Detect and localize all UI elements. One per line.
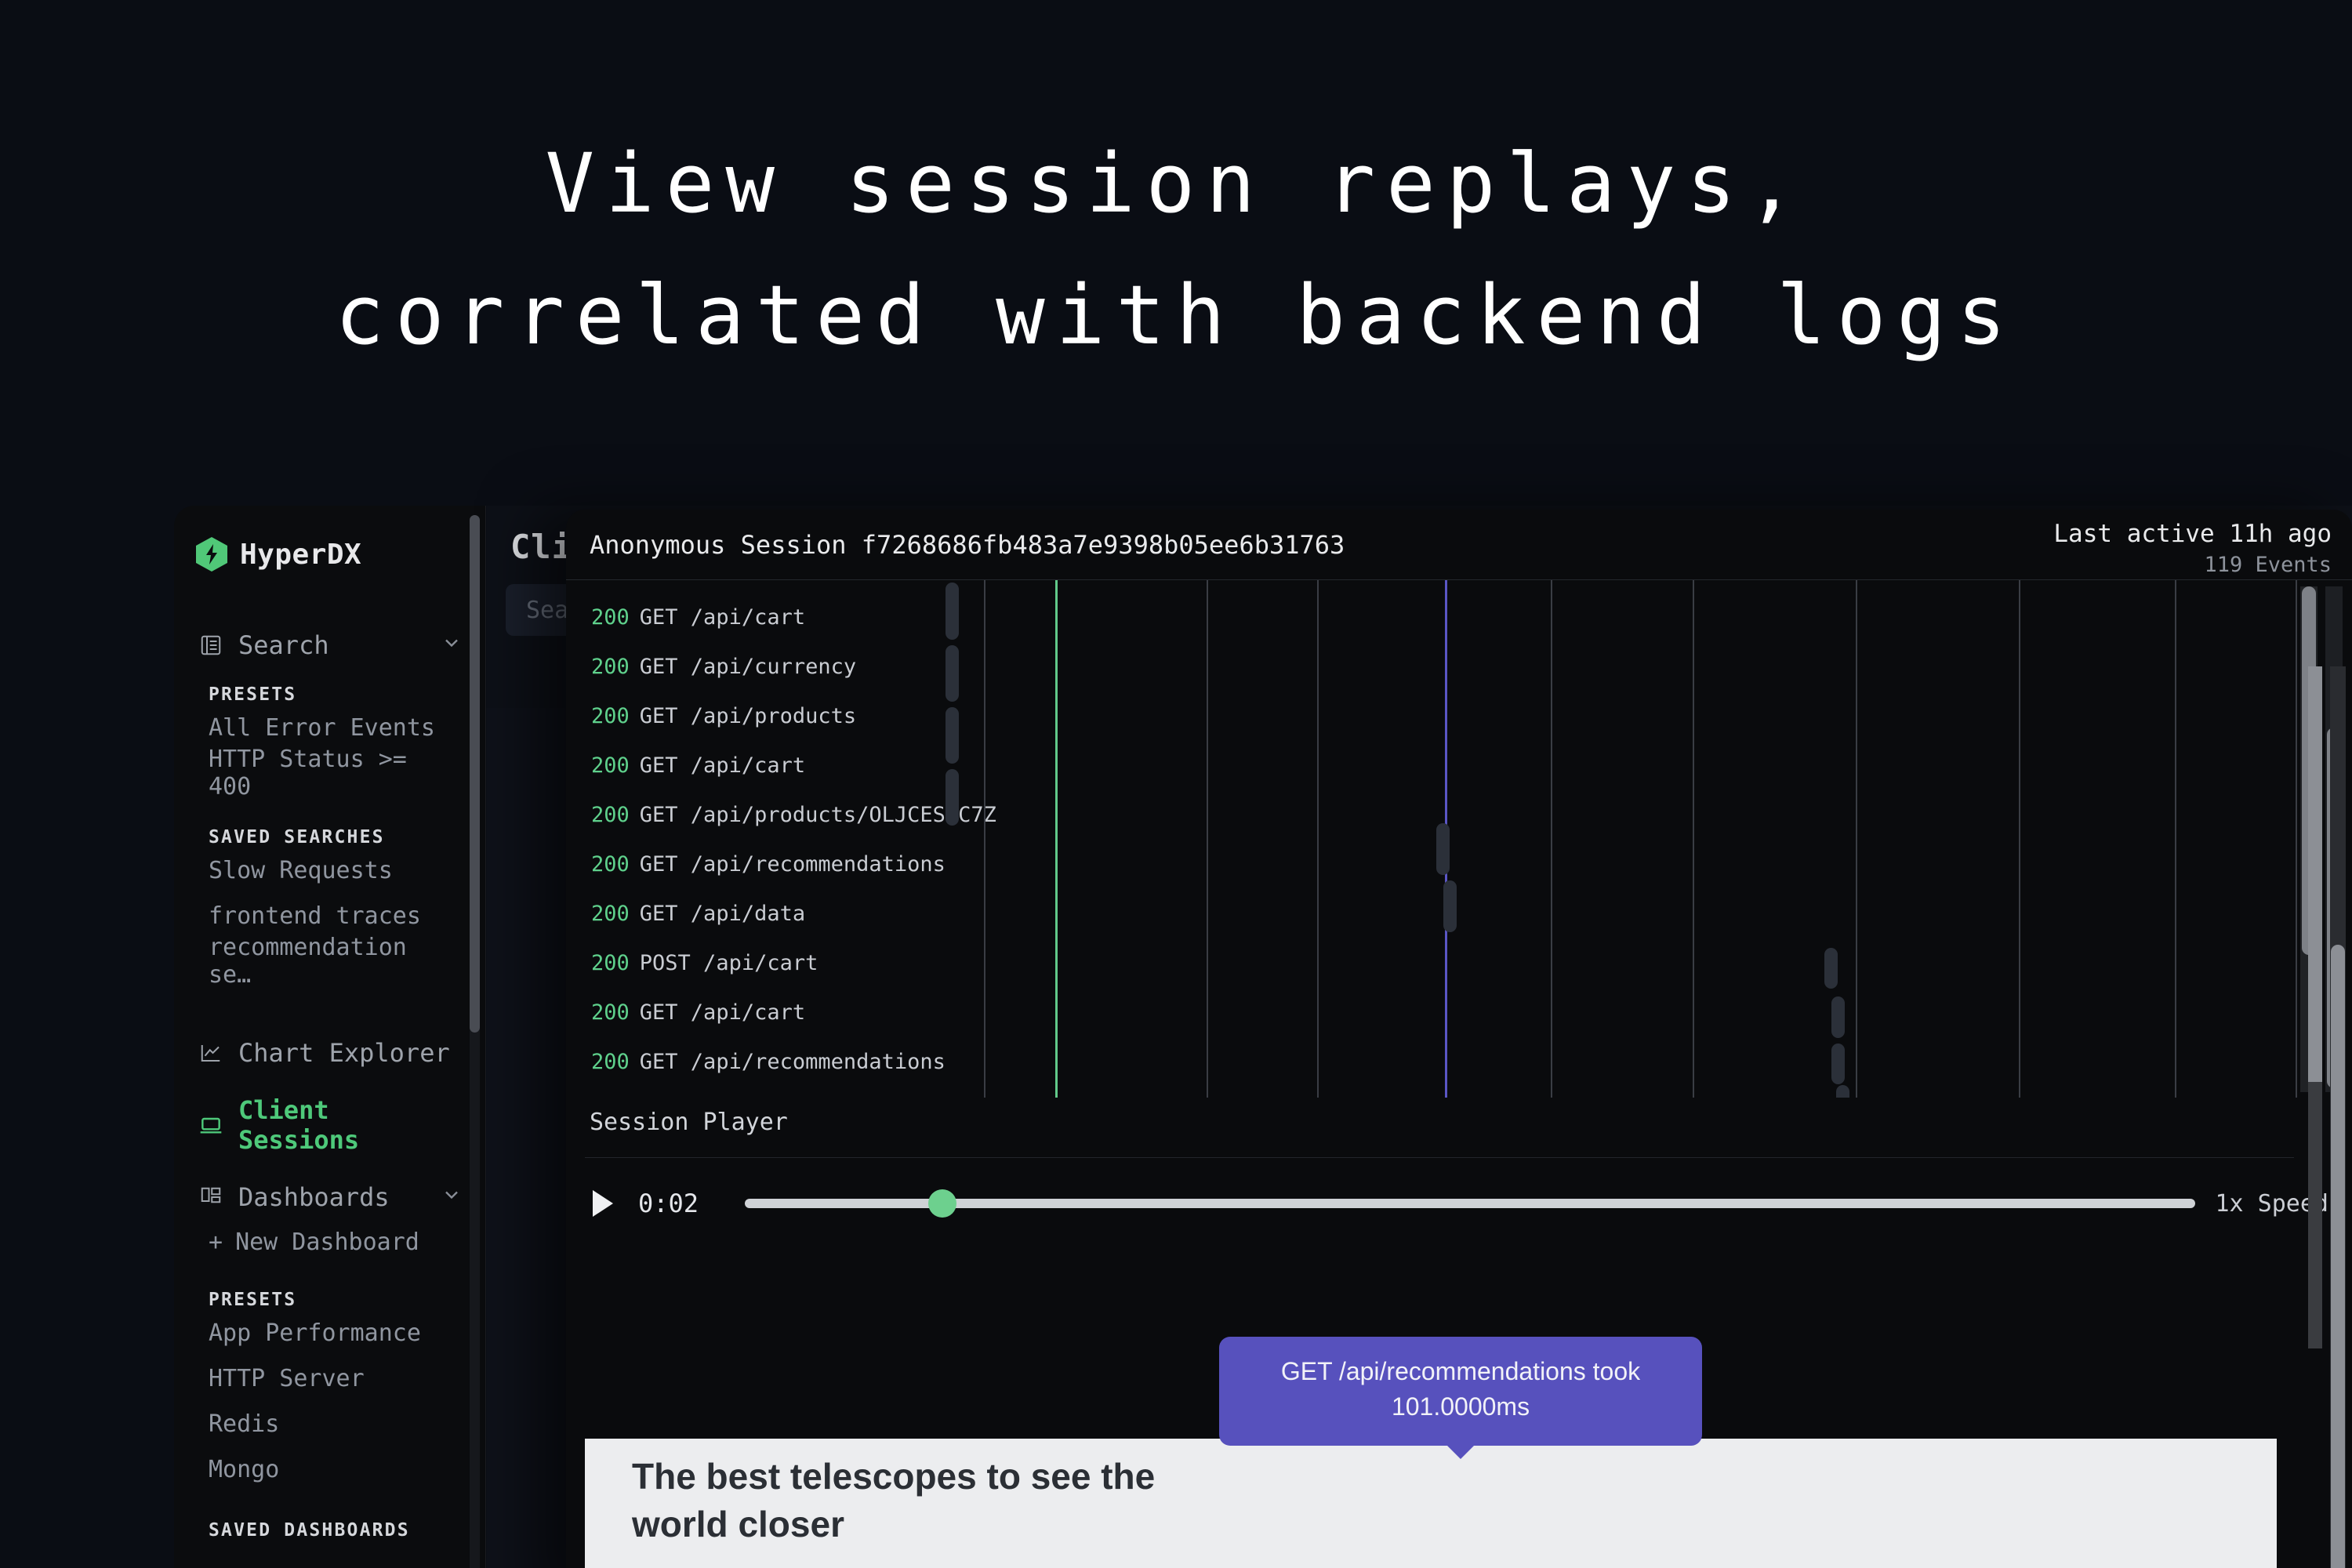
- timeline-event-marker[interactable]: [1824, 948, 1838, 989]
- sidebar-dashboard-app-performance[interactable]: App Performance: [174, 1310, 486, 1356]
- presets-label: PRESETS: [174, 667, 486, 705]
- chevron-down-icon[interactable]: [441, 1182, 463, 1212]
- event-label: GET /api/products: [640, 704, 856, 728]
- event-label: GET /api/cart: [640, 1000, 805, 1025]
- chevron-down-icon[interactable]: [441, 630, 463, 660]
- sidebar-item-label: New Dashboard: [235, 1229, 419, 1256]
- replay-viewport: The best telescopes to see the world clo…: [585, 1439, 2277, 1568]
- session-events-count: 119 Events: [2053, 551, 2332, 579]
- event-status-code: 200: [591, 951, 630, 975]
- event-row[interactable]: 200POST /api/cart: [566, 938, 935, 988]
- sidebar-item-chart-explorer[interactable]: Chart Explorer: [174, 1031, 486, 1075]
- session-player: Session Player 0:02 1x Speed: [566, 1098, 2352, 1239]
- sidebar-new-dashboard[interactable]: + New Dashboard: [174, 1219, 486, 1265]
- event-label: GET /api/data: [640, 902, 805, 926]
- panel-scrollbar-right-thumb[interactable]: [2331, 945, 2345, 1568]
- sidebar-preset-all-error-events[interactable]: All Error Events: [174, 705, 486, 750]
- sidebar-item-dashboards[interactable]: Dashboards: [174, 1175, 486, 1219]
- sidebar: HyperDX Search PRESETS All: [174, 506, 486, 1568]
- brand-logo[interactable]: HyperDX: [196, 537, 361, 572]
- player-controls: 0:02 1x Speed: [566, 1174, 2352, 1232]
- line-chart-icon: [198, 1040, 224, 1066]
- saved-searches-label: SAVED SEARCHES: [174, 810, 486, 848]
- timeline-gridline: [2019, 580, 2020, 1098]
- dashboard-grid-icon: [198, 1184, 224, 1210]
- event-status-code: 200: [591, 753, 630, 778]
- seek-rail[interactable]: [745, 1199, 2195, 1208]
- dashboard-presets-label: PRESETS: [174, 1272, 486, 1310]
- timeline-event-marker[interactable]: [946, 645, 959, 702]
- sidebar-preset-http-status-400[interactable]: HTTP Status >= 400: [174, 750, 486, 796]
- event-row[interactable]: 200GET /api/recommendations: [566, 1037, 935, 1087]
- nav-lower-group: Chart Explorer Client Sessions: [174, 1031, 486, 1541]
- hero-headline: View session replays, correlated with ba…: [0, 118, 2352, 382]
- timeline-event-marker[interactable]: [946, 583, 959, 640]
- session-timeline: 200GET /api/cart200GET /api/currency200G…: [566, 580, 2352, 1098]
- event-row[interactable]: 200GET /api/products: [566, 691, 935, 741]
- divider: [585, 1157, 2294, 1158]
- panel-scrollbar-right[interactable]: [2330, 666, 2346, 1568]
- saved-dashboards-label: SAVED DASHBOARDS: [174, 1503, 486, 1541]
- event-list: 200GET /api/cart200GET /api/currency200G…: [566, 580, 935, 1098]
- list-document-icon: [198, 632, 224, 659]
- event-status-code: 200: [591, 704, 630, 728]
- sidebar-item-label: Search: [238, 630, 329, 660]
- timeline-gridline: [1693, 580, 1694, 1098]
- timeline-event-marker[interactable]: [946, 707, 959, 764]
- timeline-gridline: [1317, 580, 1319, 1098]
- event-status-code: 200: [591, 1000, 630, 1025]
- event-label: GET /api/recommendations: [640, 852, 946, 877]
- sidebar-item-label: Client Sessions: [238, 1095, 463, 1155]
- event-label: GET /api/recommendations: [640, 1050, 946, 1074]
- hero-line-1: View session replays,: [546, 136, 1807, 231]
- timeline-event-marker[interactable]: [1443, 880, 1457, 932]
- event-label: POST /api/cart: [640, 951, 818, 975]
- timeline-event-marker[interactable]: [1831, 996, 1845, 1038]
- panel-scrollbar-left[interactable]: [2308, 666, 2322, 1348]
- tooltip-arrow: [1446, 1445, 1475, 1459]
- event-status-code: 200: [591, 605, 630, 630]
- hero-line-2: correlated with backend logs: [0, 249, 2352, 381]
- sidebar-saved-recommendation[interactable]: recommendation se…: [174, 938, 486, 984]
- app-window: HyperDX Search PRESETS All: [174, 506, 2352, 1568]
- timeline-gridline: [1551, 580, 1552, 1098]
- event-status-code: 200: [591, 655, 630, 679]
- timeline-track[interactable]: [935, 580, 2352, 1098]
- timeline-gridline: [2296, 580, 2297, 1098]
- event-row[interactable]: 200GET /api/cart: [566, 741, 935, 790]
- event-row[interactable]: 200GET /api/data: [566, 889, 935, 938]
- tooltip-line-2: 101.0000ms: [1219, 1389, 1702, 1425]
- sidebar-dashboard-http-server[interactable]: HTTP Server: [174, 1356, 486, 1401]
- timeline-event-marker[interactable]: [946, 769, 959, 826]
- event-row[interactable]: 200GET /api/cart: [566, 988, 935, 1037]
- tooltip-line-1: GET /api/recommendations took: [1219, 1354, 1702, 1389]
- sidebar-scrollbar[interactable]: [470, 515, 480, 1568]
- brand-name: HyperDX: [240, 539, 361, 571]
- event-row[interactable]: 200GET /api/products/OLJCESPC7Z: [566, 790, 935, 840]
- event-row[interactable]: 200GET /api/recommendations: [566, 840, 935, 889]
- seek-knob[interactable]: [928, 1189, 956, 1218]
- panel-scrollbar-left-thumb[interactable]: [2308, 666, 2322, 1082]
- hyperdx-bolt-hexagon-icon: [196, 537, 227, 572]
- sidebar-scrollbar-thumb[interactable]: [470, 515, 480, 1033]
- sidebar-saved-slow-requests[interactable]: Slow Requests: [174, 848, 486, 893]
- sidebar-item-label: Dashboards: [238, 1182, 390, 1212]
- timeline-event-marker[interactable]: [1436, 823, 1450, 875]
- event-label: GET /api/currency: [640, 655, 856, 679]
- laptop-icon: [198, 1112, 224, 1138]
- sidebar-dashboard-redis[interactable]: Redis: [174, 1401, 486, 1446]
- session-title: Anonymous Session f7268686fb483a7e9398b0…: [590, 530, 1345, 560]
- timeline-tooltip: GET /api/recommendations took 101.0000ms: [1219, 1337, 1702, 1446]
- plus-icon: +: [209, 1229, 223, 1256]
- timeline-gridline: [984, 580, 985, 1098]
- sidebar-item-label: Chart Explorer: [238, 1038, 450, 1068]
- nav-search-group: Search PRESETS All Error Events HTTP Sta…: [174, 623, 486, 984]
- session-header: Anonymous Session f7268686fb483a7e9398b0…: [566, 510, 2352, 580]
- green-marker: [1055, 580, 1058, 1098]
- event-label: GET /api/cart: [640, 753, 805, 778]
- event-status-code: 200: [591, 803, 630, 827]
- sidebar-item-search[interactable]: Search: [174, 623, 486, 667]
- event-status-code: 200: [591, 902, 630, 926]
- timeline-gridline: [1856, 580, 1857, 1098]
- page-root: View session replays, correlated with ba…: [0, 0, 2352, 1568]
- play-icon[interactable]: [590, 1190, 616, 1217]
- replay-heading: The best telescopes to see the world clo…: [632, 1453, 1228, 1548]
- event-label: GET /api/cart: [640, 605, 805, 630]
- player-current-time: 0:02: [638, 1189, 724, 1218]
- session-last-active: Last active 11h ago: [2053, 519, 2332, 550]
- timeline-gridline: [1207, 580, 1208, 1098]
- sidebar-saved-frontend-traces[interactable]: frontend traces: [174, 893, 486, 938]
- timeline-event-marker[interactable]: [1831, 1044, 1845, 1085]
- event-status-code: 200: [591, 852, 630, 877]
- session-player-label: Session Player: [590, 1109, 788, 1136]
- seek-slider[interactable]: [745, 1199, 2195, 1208]
- event-row[interactable]: 200GET /api/cart: [566, 593, 935, 642]
- event-row[interactable]: 200GET /api/currency: [566, 642, 935, 691]
- timeline-gridline: [2175, 580, 2176, 1098]
- sidebar-item-client-sessions[interactable]: Client Sessions: [174, 1103, 486, 1147]
- sidebar-dashboard-mongo[interactable]: Mongo: [174, 1446, 486, 1492]
- event-status-code: 200: [591, 1050, 630, 1074]
- session-meta: Last active 11h ago 119 Events: [2053, 519, 2332, 579]
